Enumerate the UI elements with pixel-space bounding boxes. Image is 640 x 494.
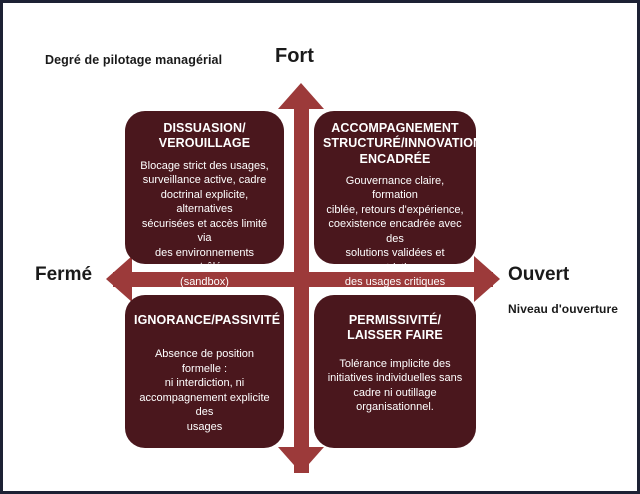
- arrow-down-icon: [278, 447, 324, 473]
- arrow-up-icon: [278, 83, 324, 109]
- vertical-axis-caption: Degré de pilotage managérial: [45, 53, 222, 67]
- quadrant-accompagnement-structure[interactable]: ACCOMPAGNEMENT STRUCTURÉ/INNOVATION ENCA…: [314, 111, 476, 264]
- diagram-frame: Degré de pilotage managérial Fort Fermé …: [0, 0, 640, 494]
- quadrant-description: Gouvernance claire, formation ciblée, re…: [323, 174, 467, 290]
- quadrant-title: ACCOMPAGNEMENT STRUCTURÉ/INNOVATION ENCA…: [323, 121, 467, 167]
- quadrant-description: Tolérance implicite des initiatives indi…: [323, 357, 467, 415]
- vertical-axis-top-label: Fort: [275, 45, 314, 68]
- quadrant-title: DISSUASION/ VEROUILLAGE: [134, 121, 275, 152]
- arrow-right-icon: [474, 256, 500, 302]
- quadrant-title: PERMISSIVITÉ/ LAISSER FAIRE: [323, 313, 467, 344]
- quadrant-ignorance-passivite[interactable]: IGNORANCE/PASSIVITÉ Absence de position …: [125, 295, 284, 448]
- quadrant-description: Absence de position formelle : ni interd…: [134, 347, 275, 434]
- horizontal-axis-left-label: Fermé: [35, 264, 92, 286]
- quadrant-description: Blocage strict des usages, surveillance …: [134, 159, 275, 290]
- quadrant-dissuasion-verouillage[interactable]: DISSUASION/ VEROUILLAGE Blocage strict d…: [125, 111, 284, 264]
- quadrant-title: IGNORANCE/PASSIVITÉ: [134, 313, 275, 328]
- quadrant-permissivite-laisser-faire[interactable]: PERMISSIVITÉ/ LAISSER FAIRE Tolérance im…: [314, 295, 476, 448]
- arrow-left-icon: [106, 256, 132, 302]
- horizontal-axis-right-label: Ouvert: [508, 264, 569, 286]
- horizontal-axis-caption: Niveau d'ouverture: [508, 302, 618, 316]
